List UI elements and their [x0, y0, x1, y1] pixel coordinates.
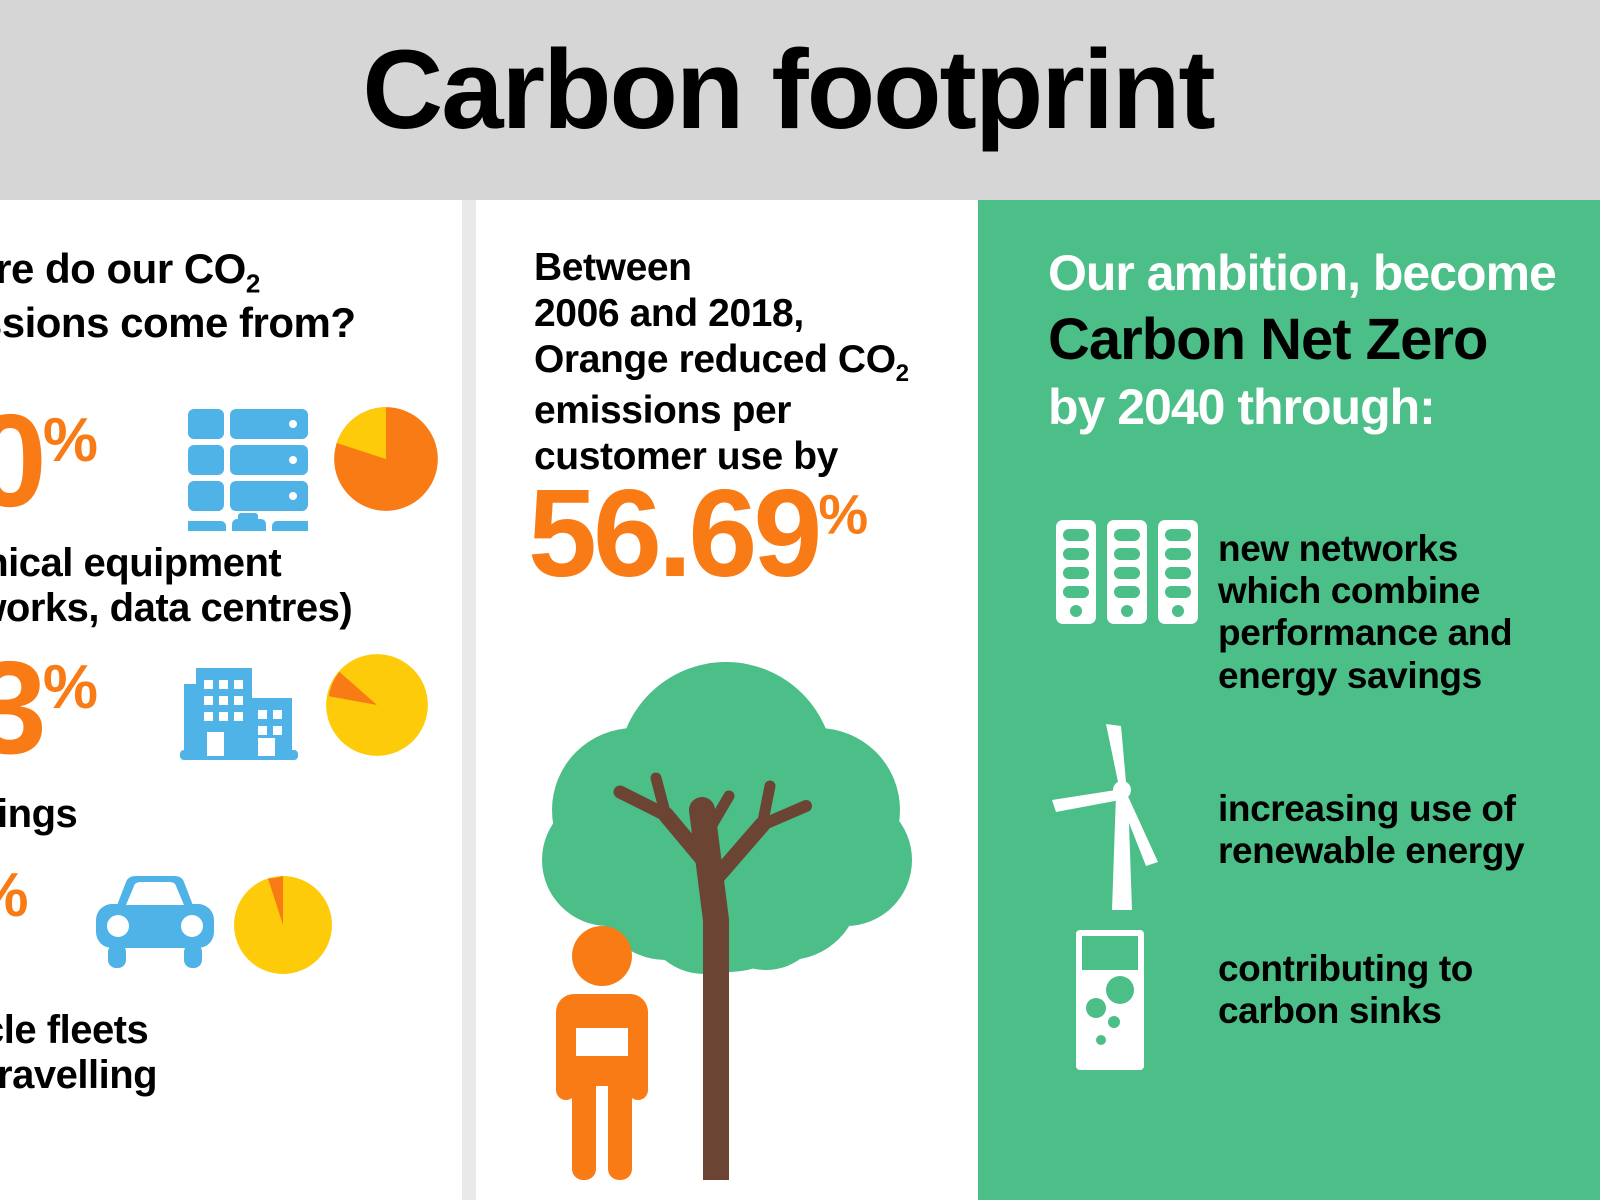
person-figure: [556, 926, 648, 1180]
bullet-3-line2: carbon sinks: [1218, 990, 1441, 1031]
stat-number-2: 13: [0, 634, 43, 781]
server-rack-icon: [1056, 520, 1198, 629]
stat-unit-2: %: [43, 653, 96, 722]
stat-label-2: buildings: [0, 792, 524, 837]
stat-label-3: vehicle fleets and travelling: [0, 1008, 524, 1098]
stat-value-3: 4%: [0, 850, 27, 982]
mid-line-4: emissions per: [534, 389, 791, 432]
stat-label-1-line1: technical equipment: [0, 541, 281, 585]
ambition-bullet-1-text: new networks which combine performance a…: [1218, 528, 1512, 697]
stat-value-1: 80%: [0, 395, 96, 527]
bullet-1-line1: new networks: [1218, 528, 1458, 569]
ambition-line-2: Carbon Net Zero: [1048, 307, 1487, 372]
ambition-line-1: Our ambition, become: [1048, 245, 1556, 301]
bullet-3-line1: contributing to: [1218, 948, 1473, 989]
stat-item-technical-equipment: 80%: [0, 395, 504, 545]
stat-label-1-line2: (networks, data centres): [0, 586, 352, 630]
stat-label-1: technical equipment (networks, data cent…: [0, 541, 524, 631]
stat-label-2-line1: buildings: [0, 792, 77, 836]
co2-subscript-mid: 2: [896, 360, 909, 387]
ambition-line-3: by 2040 through:: [1048, 379, 1435, 435]
stat-unit-1: %: [43, 406, 96, 475]
pie-chart-buildings: [324, 652, 430, 763]
infographic-root: Carbon footprint Where do our CO2 emissi…: [0, 0, 1600, 1200]
pie-chart-vehicle-fleets: [232, 874, 334, 981]
reduction-value: 56.69: [528, 465, 818, 603]
tree-with-person-illustration: [516, 620, 946, 1185]
pie-chart-technical-equipment: [332, 405, 440, 518]
mid-panel-statement: Between 2006 and 2018, Orange reduced CO…: [534, 245, 954, 480]
stat-number-1: 80: [0, 387, 43, 534]
panel-reduction-achieved: Between 2006 and 2018, Orange reduced CO…: [476, 200, 978, 1200]
bullet-1-line3: performance and: [1218, 612, 1512, 653]
stat-item-buildings: 13%: [0, 642, 504, 792]
wind-turbine-icon: [1046, 720, 1196, 915]
server-rack-icon: [188, 409, 308, 536]
ambition-heading: Our ambition, become Carbon Net Zero by …: [1048, 242, 1600, 438]
mid-line-2: 2006 and 2018,: [534, 292, 804, 335]
bullet-1-line4: energy savings: [1218, 655, 1482, 696]
reduction-percentage: 56.69%: [528, 472, 866, 596]
stat-unit-3: %: [0, 861, 27, 930]
ambition-bullet-3-text: contributing to carbon sinks: [1218, 948, 1473, 1032]
header-bar: Carbon footprint: [0, 0, 1600, 200]
office-building-icon: [180, 654, 298, 769]
panel-divider: [462, 200, 476, 1200]
stat-item-vehicle-fleets: 4%: [0, 850, 504, 1000]
reduction-unit: %: [818, 483, 866, 546]
bullet-2-line2: renewable energy: [1218, 830, 1524, 871]
bullet-2-line1: increasing use of: [1218, 788, 1516, 829]
panel-ambition: Our ambition, become Carbon Net Zero by …: [978, 200, 1600, 1200]
mid-line-3: Orange reduced CO: [534, 338, 896, 381]
ambition-bullet-2-text: increasing use of renewable energy: [1218, 788, 1524, 872]
stat-label-3-line2: and travelling: [0, 1053, 157, 1097]
carbon-sink-beaker-icon: [1070, 930, 1160, 1075]
car-icon: [96, 874, 214, 977]
co2-subscript: 2: [246, 268, 260, 298]
page-title: Carbon footprint: [0, 34, 1576, 146]
left-panel-question: Where do our CO2 emissions come from?: [0, 245, 468, 347]
panel-emissions-sources: Where do our CO2 emissions come from? 80…: [0, 200, 462, 1200]
mid-line-1: Between: [534, 246, 692, 289]
question-line-1: Where do our CO: [0, 245, 246, 292]
stat-label-3-line1: vehicle fleets: [0, 1008, 148, 1052]
stat-value-2: 13%: [0, 642, 96, 774]
bullet-1-line2: which combine: [1218, 570, 1480, 611]
question-line-2: emissions come from?: [0, 299, 355, 346]
